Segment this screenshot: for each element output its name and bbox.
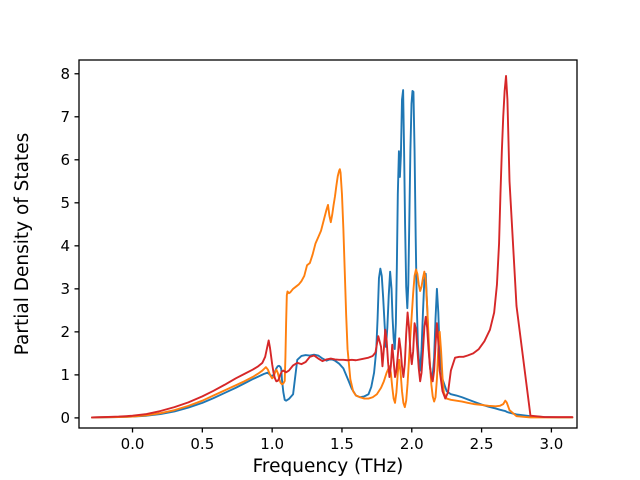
x-tick-label: 0.0 <box>121 435 145 453</box>
plot-background <box>0 0 640 480</box>
y-tick-label: 4 <box>60 237 70 255</box>
y-tick-label: 5 <box>60 194 70 212</box>
y-tick-label: 3 <box>60 280 70 298</box>
y-tick-label: 2 <box>60 323 70 341</box>
x-tick-label: 1.0 <box>260 435 284 453</box>
y-tick-label: 6 <box>60 151 70 169</box>
x-tick-label: 2.0 <box>400 435 424 453</box>
x-tick-label: 2.5 <box>470 435 494 453</box>
y-tick-label: 1 <box>60 366 70 384</box>
x-tick-label: 1.5 <box>330 435 354 453</box>
x-tick-label: 3.0 <box>539 435 563 453</box>
y-axis-label: Partial Density of States <box>12 133 33 356</box>
x-axis-label: Frequency (THz) <box>253 456 404 477</box>
y-tick-label: 8 <box>60 65 70 83</box>
chart-figure: 0.00.51.01.52.02.53.0 012345678 Frequenc… <box>0 0 640 480</box>
partial-dos-plot: 0.00.51.01.52.02.53.0 012345678 Frequenc… <box>0 0 640 480</box>
x-tick-label: 0.5 <box>190 435 214 453</box>
y-axis-tick-labels: 012345678 <box>60 65 70 427</box>
y-tick-label: 7 <box>60 108 70 126</box>
y-tick-label: 0 <box>60 409 70 427</box>
